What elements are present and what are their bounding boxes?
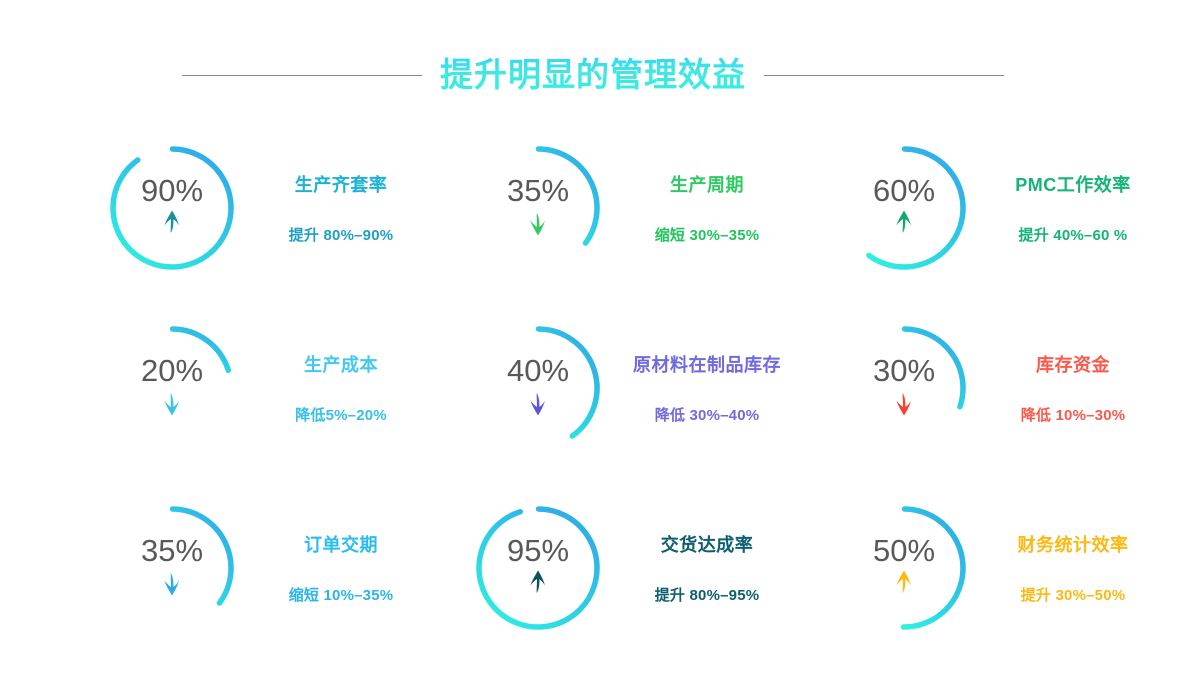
metric-name: 库存资金	[1036, 351, 1110, 377]
arrow-up-icon	[893, 569, 915, 597]
metric-value: 20%	[141, 355, 203, 386]
metric-card: 30%库存资金降低 10%–30%	[792, 298, 1158, 478]
arrow-down-icon	[527, 209, 549, 237]
ring-center: 30%	[834, 318, 974, 458]
metric-labels: 原材料在制品库存降低 30%–40%	[622, 351, 792, 425]
metric-card: 35%订单交期缩短 10%–35%	[60, 478, 426, 658]
metric-name: 原材料在制品库存	[633, 351, 781, 377]
metric-delta: 提升 80%–95%	[655, 584, 760, 605]
arrow-up-icon	[893, 209, 915, 237]
header-rule-right	[764, 75, 1004, 76]
metric-delta: 降低5%–20%	[295, 404, 387, 425]
metric-value: 40%	[507, 355, 569, 386]
metric-delta: 降低 10%–30%	[1021, 404, 1126, 425]
ring-center: 35%	[102, 498, 242, 638]
metric-value: 95%	[507, 535, 569, 566]
metric-card: 40%原材料在制品库存降低 30%–40%	[426, 298, 792, 478]
metric-labels: 生产周期缩短 30%–35%	[622, 171, 792, 245]
progress-ring: 30%	[834, 318, 974, 458]
ring-center: 50%	[834, 498, 974, 638]
metric-delta: 缩短 10%–35%	[289, 584, 394, 605]
metric-name: 交货达成率	[661, 531, 754, 557]
metric-card: 90%生产齐套率提升 80%–90%	[60, 118, 426, 298]
metric-value: 90%	[141, 175, 203, 206]
metric-labels: 生产成本降低5%–20%	[256, 351, 426, 425]
arrow-down-icon	[161, 389, 183, 417]
page-title: 提升明显的管理效益	[440, 56, 746, 94]
metric-value: 30%	[873, 355, 935, 386]
arrow-up-icon	[161, 209, 183, 237]
ring-center: 20%	[102, 318, 242, 458]
metric-card: 50%财务统计效率提升 30%–50%	[792, 478, 1158, 658]
metric-card: 60%PMC工作效率提升 40%–60 %	[792, 118, 1158, 298]
metric-name: 生产周期	[670, 171, 744, 197]
progress-ring: 50%	[834, 498, 974, 638]
metric-card: 20%生产成本降低5%–20%	[60, 298, 426, 478]
metric-delta: 提升 80%–90%	[289, 224, 394, 245]
metric-labels: PMC工作效率提升 40%–60 %	[988, 171, 1158, 245]
metric-name: 生产齐套率	[295, 171, 388, 197]
metric-name: PMC工作效率	[1015, 171, 1131, 197]
metric-delta: 提升 40%–60 %	[1019, 224, 1128, 245]
metric-labels: 订单交期缩短 10%–35%	[256, 531, 426, 605]
progress-ring: 60%	[834, 138, 974, 278]
metric-value: 50%	[873, 535, 935, 566]
metric-labels: 交货达成率提升 80%–95%	[622, 531, 792, 605]
ring-center: 90%	[102, 138, 242, 278]
metric-labels: 库存资金降低 10%–30%	[988, 351, 1158, 425]
metric-name: 财务统计效率	[1018, 531, 1129, 557]
metric-value: 35%	[507, 175, 569, 206]
arrow-down-icon	[527, 389, 549, 417]
metrics-grid: 90%生产齐套率提升 80%–90%35%生产周期缩短 30%–35%60%PM…	[60, 118, 1126, 658]
ring-center: 60%	[834, 138, 974, 278]
progress-ring: 35%	[102, 498, 242, 638]
metric-delta: 提升 30%–50%	[1021, 584, 1126, 605]
metric-value: 60%	[873, 175, 935, 206]
arrow-down-icon	[161, 569, 183, 597]
metric-labels: 财务统计效率提升 30%–50%	[988, 531, 1158, 605]
arrow-down-icon	[893, 389, 915, 417]
header-rule-left	[182, 75, 422, 76]
metric-name: 订单交期	[304, 531, 378, 557]
ring-center: 40%	[468, 318, 608, 458]
page-header: 提升明显的管理效益	[0, 52, 1186, 98]
progress-ring: 40%	[468, 318, 608, 458]
metric-card: 35%生产周期缩短 30%–35%	[426, 118, 792, 298]
ring-center: 95%	[468, 498, 608, 638]
metric-delta: 降低 30%–40%	[655, 404, 760, 425]
metric-delta: 缩短 30%–35%	[655, 224, 760, 245]
metric-labels: 生产齐套率提升 80%–90%	[256, 171, 426, 245]
metric-card: 95%交货达成率提升 80%–95%	[426, 478, 792, 658]
progress-ring: 20%	[102, 318, 242, 458]
progress-ring: 35%	[468, 138, 608, 278]
arrow-up-icon	[527, 569, 549, 597]
progress-ring: 90%	[102, 138, 242, 278]
ring-center: 35%	[468, 138, 608, 278]
metric-name: 生产成本	[304, 351, 378, 377]
progress-ring: 95%	[468, 498, 608, 638]
metric-value: 35%	[141, 535, 203, 566]
